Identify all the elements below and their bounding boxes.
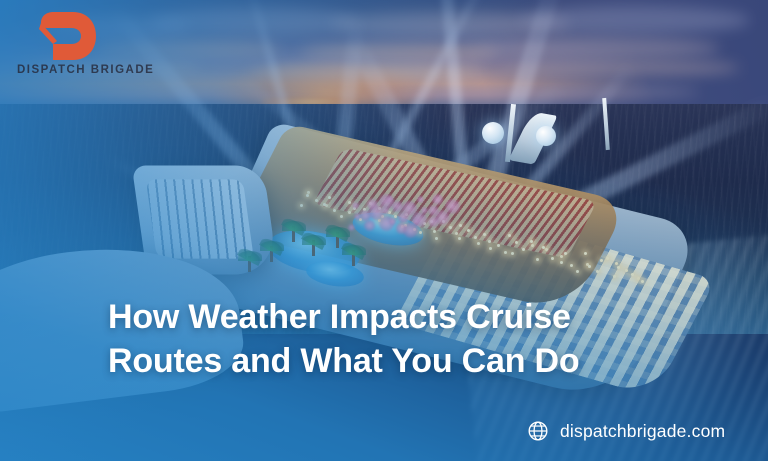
title-line-1: How Weather Impacts Cruise (108, 296, 708, 340)
brand-logo[interactable]: DISPATCH BRIGADE (17, 10, 137, 76)
globe-icon (527, 420, 549, 442)
site-url-text: dispatchbrigade.com (560, 421, 725, 442)
dispatch-brigade-d-logo (37, 10, 99, 62)
title-line-2: Routes and What You Can Do (108, 340, 708, 384)
page-title: How Weather Impacts Cruise Routes and Wh… (108, 296, 708, 383)
blog-featured-image: DISPATCH BRIGADE How Weather Impacts Cru… (0, 0, 768, 461)
brand-wordmark: DISPATCH BRIGADE (17, 64, 137, 76)
site-url-row[interactable]: dispatchbrigade.com (527, 420, 725, 442)
